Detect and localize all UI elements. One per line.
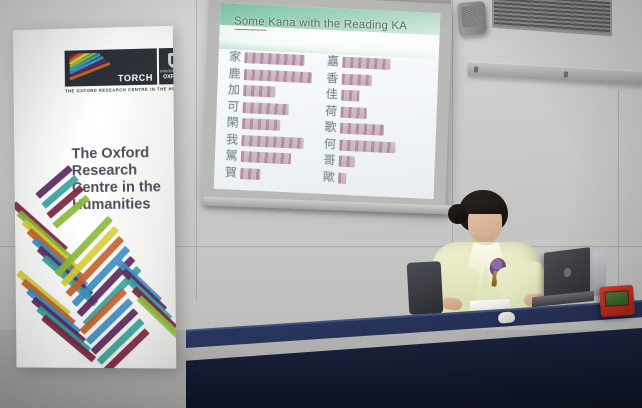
- kanji-glyph: 何: [323, 137, 336, 151]
- kanji-glyph: 加: [227, 83, 240, 97]
- kanji-glyph: 荷: [324, 104, 337, 118]
- kana-row: 歌: [324, 120, 396, 138]
- projection-screen: Some Kana with the Reading KA 家鹿加可閑我駕賀 嘉…: [205, 0, 455, 228]
- laptop-logo-icon: [564, 268, 571, 278]
- hentaigana-highlight: [241, 135, 303, 149]
- kanji-glyph: 閑: [226, 116, 239, 130]
- torch-wordmark: TORCH: [118, 73, 153, 84]
- countdown-timer[interactable]: [599, 285, 635, 317]
- kana-row: 賀: [224, 165, 308, 184]
- hentaigana-highlight: [241, 151, 291, 164]
- kana-row: 歟: [322, 169, 394, 187]
- hentaigana-highlight: [339, 139, 395, 153]
- timer-display: [604, 290, 629, 307]
- hentaigana-highlight: [244, 52, 304, 66]
- kanji-glyph: 歌: [324, 121, 337, 135]
- banner-headline: The Oxford Research Centre in the Humani…: [72, 145, 177, 215]
- kanji-glyph: 鹿: [228, 67, 241, 81]
- torch-pullup-banner: TORCH UNIVERSITY OF OXFORD THE OXFORD RE…: [13, 26, 176, 369]
- laptop: [540, 250, 602, 306]
- hentaigana-highlight: [341, 90, 359, 102]
- screen-board: Some Kana with the Reading KA 家鹿加可閑我駕賀 嘉…: [201, 0, 452, 212]
- hentaigana-highlight: [342, 73, 372, 85]
- rail-bolt: [564, 71, 568, 77]
- hentaigana-highlight: [342, 57, 390, 70]
- hentaigana-highlight: [244, 69, 312, 83]
- headline-line-3: Centre in the: [72, 179, 176, 197]
- kanji-glyph: 駕: [225, 149, 238, 163]
- kanji-glyph: 佳: [325, 88, 338, 102]
- kana-row: 荷: [324, 103, 396, 121]
- screen-surface: Some Kana with the Reading KA 家鹿加可閑我駕賀 嘉…: [214, 3, 441, 199]
- kanji-glyph: 家: [228, 50, 241, 64]
- torch-tagline: THE OXFORD RESEARCH CENTRE IN THE HUMANI…: [65, 86, 176, 94]
- wall-speaker-icon: [457, 1, 487, 36]
- kana-row: 哥: [323, 153, 395, 171]
- hair-fringe: [466, 200, 504, 214]
- kanji-glyph: 賀: [224, 166, 237, 180]
- hentaigana-highlight: [243, 102, 289, 115]
- kanji-glyph: 我: [225, 133, 238, 147]
- torch-logo: TORCH: [65, 48, 158, 86]
- headline-line-1: The Oxford: [72, 145, 177, 164]
- hentaigana-highlight: [338, 172, 346, 183]
- computer-mouse: [497, 311, 515, 324]
- kanji-glyph: 嘉: [326, 55, 339, 69]
- lecture-room-photo: Some Kana with the Reading KA 家鹿加可閑我駕賀 嘉…: [0, 0, 642, 408]
- kana-row: 香: [326, 70, 398, 88]
- kana-row: 嘉: [326, 54, 398, 72]
- kana-column-left: 家鹿加可閑我駕賀: [224, 49, 313, 183]
- kana-row: 佳: [325, 87, 397, 105]
- kanji-glyph: 歟: [322, 170, 335, 184]
- wall-joint-far-right: [618, 90, 619, 290]
- presentation-slide: Some Kana with the Reading KA 家鹿加可閑我駕賀 嘉…: [214, 3, 441, 199]
- torch-burst-icon: [68, 52, 122, 83]
- hentaigana-highlight: [243, 85, 275, 98]
- kanji-glyph: 哥: [323, 154, 336, 168]
- hentaigana-highlight: [339, 156, 355, 168]
- laptop-base: [532, 291, 594, 308]
- hentaigana-highlight: [340, 106, 366, 118]
- headline-line-2: Research: [72, 162, 177, 180]
- kanji-glyph: 可: [227, 100, 240, 114]
- wall-joint-left: [196, 0, 197, 300]
- draped-table: [186, 300, 642, 408]
- hair-bun: [448, 204, 468, 224]
- hentaigana-highlight: [340, 123, 384, 136]
- kana-column-right: 嘉香佳荷歌何哥歟: [322, 54, 399, 188]
- hentaigana-highlight: [242, 118, 280, 131]
- slide-body: 家鹿加可閑我駕賀 嘉香佳荷歌何哥歟: [224, 49, 429, 189]
- hentaigana-highlight: [240, 167, 260, 179]
- kana-row: 何: [323, 136, 395, 154]
- rail-bolt: [474, 66, 478, 72]
- kanji-glyph: 香: [326, 71, 339, 85]
